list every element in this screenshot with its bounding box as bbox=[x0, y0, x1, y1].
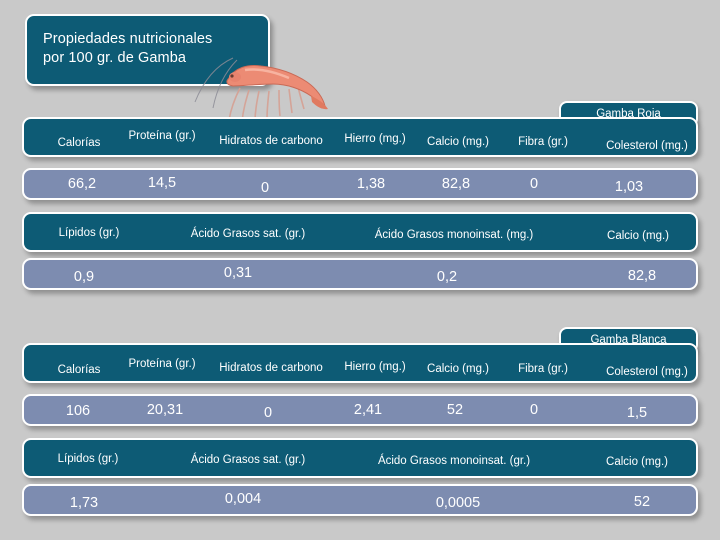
column-header-grasos-sat: Ácido Grasos sat. (gr.) bbox=[191, 454, 305, 466]
value-hidratos: 0 bbox=[261, 180, 269, 196]
column-header-hierro: Hierro (mg.) bbox=[344, 361, 405, 373]
column-header-hidratos: Hidratos de carbono bbox=[219, 362, 323, 374]
value-calcio: 82,8 bbox=[442, 176, 470, 192]
column-header-proteina: Proteína (gr.) bbox=[128, 358, 195, 370]
value-grasos-sat: 0,004 bbox=[225, 491, 261, 507]
value-row-gamba-blanca-1: 106 20,31 0 2,41 52 0 1,5 bbox=[22, 394, 698, 426]
title-line-1: Propiedades nutricionales bbox=[43, 30, 268, 49]
column-header-grasos-monoinsat: Ácido Grasos monoinsat. (gr.) bbox=[378, 455, 530, 467]
column-header-calcio: Calcio (mg.) bbox=[427, 136, 489, 148]
column-header-calcio: Calcio (mg.) bbox=[427, 363, 489, 375]
value-grasos-monoinsat: 0,2 bbox=[437, 269, 457, 285]
column-header-fibra: Fibra (gr.) bbox=[518, 136, 568, 148]
value-colesterol: 1,03 bbox=[615, 179, 643, 195]
value-calorias: 66,2 bbox=[68, 176, 96, 192]
value-row-gamba-blanca-2: 1,73 0,004 0,0005 52 bbox=[22, 484, 698, 516]
value-calorias: 106 bbox=[66, 403, 90, 419]
column-header-proteina: Proteína (gr.) bbox=[128, 130, 195, 142]
value-calcio-2: 82,8 bbox=[628, 268, 656, 284]
column-header-fibra: Fibra (gr.) bbox=[518, 363, 568, 375]
value-fibra: 0 bbox=[530, 402, 538, 418]
column-header-grasos-sat: Ácido Grasos sat. (gr.) bbox=[191, 228, 305, 240]
value-fibra: 0 bbox=[530, 176, 538, 192]
column-header-colesterol: Colesterol (mg.) bbox=[606, 140, 688, 152]
title-line-2: por 100 gr. de Gamba bbox=[43, 49, 268, 68]
header-row-gamba-blanca-1: Calorías Proteína (gr.) Hidratos de carb… bbox=[22, 343, 698, 383]
value-proteina: 20,31 bbox=[147, 402, 183, 418]
value-colesterol: 1,5 bbox=[627, 405, 647, 421]
header-row-gamba-roja-1: Calorías Proteína (gr.) Hidratos de carb… bbox=[22, 117, 698, 157]
value-hierro: 1,38 bbox=[357, 176, 385, 192]
column-header-lipidos: Lípidos (gr.) bbox=[58, 453, 119, 465]
header-row-gamba-roja-2: Lípidos (gr.) Ácido Grasos sat. (gr.) Ác… bbox=[22, 212, 698, 252]
value-grasos-sat: 0,31 bbox=[224, 265, 252, 281]
title-card: Propiedades nutricionales por 100 gr. de… bbox=[25, 14, 270, 86]
column-header-colesterol: Colesterol (mg.) bbox=[606, 366, 688, 378]
value-lipidos: 1,73 bbox=[70, 495, 98, 511]
column-header-calcio-2: Calcio (mg.) bbox=[606, 456, 668, 468]
value-proteina: 14,5 bbox=[148, 175, 176, 191]
value-lipidos: 0,9 bbox=[74, 269, 94, 285]
column-header-calorias: Calorías bbox=[58, 137, 101, 149]
value-row-gamba-roja-2: 0,9 0,31 0,2 82,8 bbox=[22, 258, 698, 290]
column-header-lipidos: Lípidos (gr.) bbox=[59, 227, 120, 239]
header-row-gamba-blanca-2: Lípidos (gr.) Ácido Grasos sat. (gr.) Ác… bbox=[22, 438, 698, 478]
column-header-hierro: Hierro (mg.) bbox=[344, 133, 405, 145]
value-calcio: 52 bbox=[447, 402, 463, 418]
value-calcio-2: 52 bbox=[634, 494, 650, 510]
value-hierro: 2,41 bbox=[354, 402, 382, 418]
value-grasos-monoinsat: 0,0005 bbox=[436, 495, 480, 511]
column-header-grasos-monoinsat: Ácido Grasos monoinsat. (mg.) bbox=[375, 229, 534, 241]
column-header-calorias: Calorías bbox=[58, 364, 101, 376]
value-hidratos: 0 bbox=[264, 405, 272, 421]
value-row-gamba-roja-1: 66,2 14,5 0 1,38 82,8 0 1,03 bbox=[22, 168, 698, 200]
column-header-hidratos: Hidratos de carbono bbox=[219, 135, 323, 147]
column-header-calcio-2: Calcio (mg.) bbox=[607, 230, 669, 242]
